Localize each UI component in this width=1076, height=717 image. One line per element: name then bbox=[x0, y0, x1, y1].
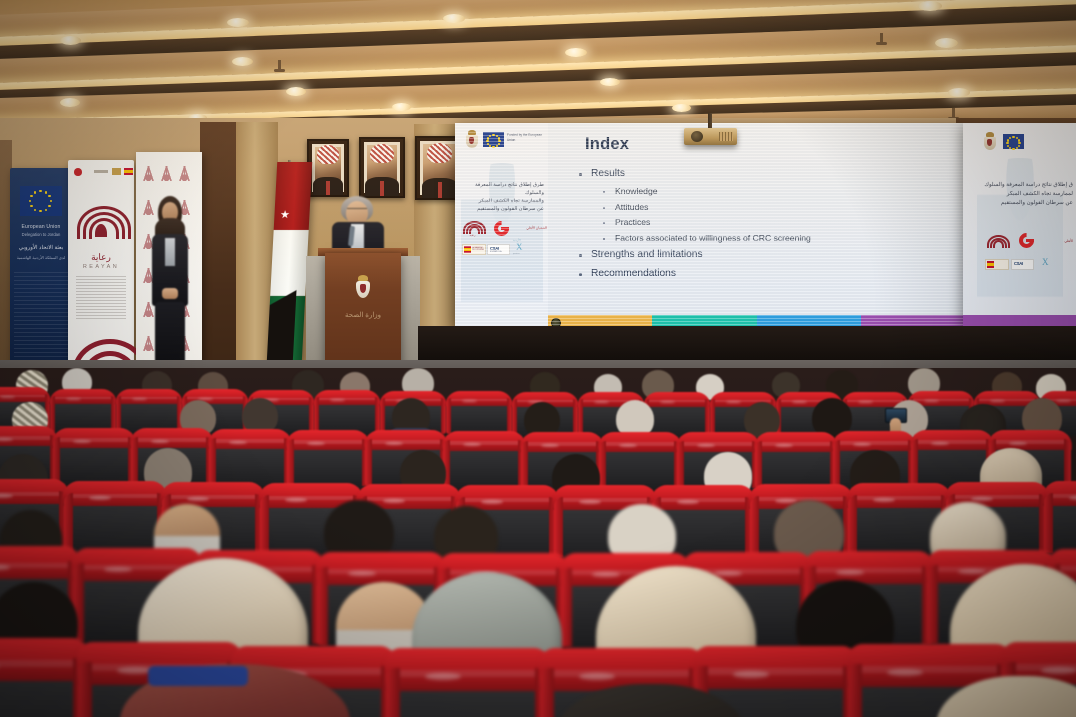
jordan-coat-of-arms-icon bbox=[355, 275, 371, 299]
reayan-banner-text-block bbox=[76, 276, 126, 320]
jordan-coat-of-arms-icon bbox=[983, 132, 996, 151]
projector-vent bbox=[719, 132, 733, 141]
auditorium-seat bbox=[212, 433, 288, 487]
audience-member bbox=[556, 684, 746, 717]
reayan-heart-logo bbox=[77, 206, 125, 250]
red-c-logo bbox=[494, 221, 509, 236]
reayan-banner: رعاية REAYAN bbox=[68, 160, 134, 385]
auditorium-seat bbox=[56, 432, 132, 486]
arabic-partner-label: الأهلي bbox=[1043, 239, 1073, 243]
auditorium-seat bbox=[392, 656, 542, 717]
auditorium-seat bbox=[68, 486, 162, 556]
reayan-heart-logo bbox=[987, 235, 1006, 250]
slide-title: Index bbox=[585, 135, 629, 154]
audience-member-hijab bbox=[120, 664, 350, 717]
royal-portrait bbox=[359, 137, 405, 198]
auditorium-seat bbox=[1048, 486, 1076, 556]
arabic-partner-label: الشعبان الأهلي bbox=[513, 226, 547, 230]
bullet-item: Recommendations bbox=[573, 265, 949, 284]
slide-partner-logos: رعاية الشعبان الأهلي GOBIERNO DE ESPAÑA … bbox=[459, 221, 545, 271]
conference-hall-photo: European Union Delegation to Jordan بعثة… bbox=[0, 0, 1076, 717]
podium-arabic-text: وزارة الصحة bbox=[325, 311, 401, 319]
bullet-item: Attitudes bbox=[573, 200, 949, 216]
eu-banner-line1: European Union bbox=[10, 224, 72, 230]
standing-attendee bbox=[148, 196, 192, 368]
reayan-arabic-name: رعاية bbox=[68, 252, 134, 263]
auditorium-seat bbox=[290, 434, 366, 488]
secondary-display-arabic-title: ق إطلاق نتائج دراسة المعرفة والسلوك لمما… bbox=[965, 181, 1073, 208]
auditorium-seat bbox=[914, 434, 990, 488]
eu-flag-icon bbox=[483, 132, 504, 147]
slide-bullet-list: Results Knowledge Attitudes Practices Fa… bbox=[573, 165, 949, 284]
eu-flag-icon bbox=[20, 186, 62, 216]
projector-lens-icon bbox=[691, 131, 703, 142]
bullet-item: Factors associated to willingness of CRC… bbox=[573, 231, 949, 247]
audience-member-hijab bbox=[936, 676, 1076, 717]
auditorium-seat bbox=[0, 646, 80, 717]
ac-partner-logo: الأردنية Χ partner bbox=[513, 241, 530, 255]
bullet-item: Knowledge bbox=[573, 184, 949, 200]
royal-portrait bbox=[307, 139, 349, 197]
reayan-latin-name: REAYAN bbox=[68, 264, 134, 270]
slide-eu-funding-text: Funded by the European Union bbox=[507, 133, 545, 143]
bullet-item: Strengths and limitations bbox=[573, 246, 949, 265]
european-union-banner: European Union Delegation to Jordan بعثة… bbox=[10, 168, 72, 373]
spain-logo-caption: GOBIERNO DE ESPAÑA bbox=[472, 247, 484, 252]
podium-side-panel-left bbox=[306, 256, 326, 374]
csai-logo: CSAI ESPAÑOLA bbox=[487, 244, 510, 255]
eu-banner-arabic1: بعثة الاتحاد الأوروبي bbox=[10, 245, 72, 251]
reayan-heart-logo: رعاية bbox=[463, 221, 482, 236]
reayan-banner-partner-logos bbox=[72, 166, 130, 180]
auditorium-seat bbox=[758, 436, 834, 490]
eu-banner-arabic2: لدى المملكة الأردنية الهاشمية bbox=[10, 255, 72, 260]
auditorium-seat bbox=[316, 393, 378, 435]
ceiling-projector bbox=[684, 128, 737, 145]
podium: وزارة الصحة bbox=[325, 253, 401, 375]
audience-area bbox=[0, 368, 1076, 717]
eu-banner-line2: Delegation to Jordan bbox=[10, 232, 72, 237]
reayan-logo-caption: رعاية bbox=[464, 234, 481, 237]
eu-banner-text-block bbox=[14, 272, 68, 367]
podium-side-panel-right bbox=[400, 256, 420, 374]
spain-government-logo: GOBIERNO DE ESPAÑA bbox=[462, 244, 486, 255]
ceiling bbox=[0, 0, 1076, 132]
spain-government-logo bbox=[985, 259, 1009, 270]
jordan-coat-of-arms-icon bbox=[465, 130, 478, 149]
auditorium-seat bbox=[602, 436, 678, 490]
presentation-slide: Funded by the European Union طرق إطلاق ن… bbox=[455, 123, 965, 328]
bullet-item: Practices bbox=[573, 215, 949, 231]
projection-screen: Funded by the European Union طرق إطلاق ن… bbox=[455, 123, 965, 328]
csai-logo: CSAI bbox=[1011, 259, 1034, 270]
red-c-logo bbox=[1019, 233, 1034, 248]
auditorium-seat bbox=[448, 394, 510, 436]
slide-arabic-title: طرق إطلاق نتائج دراسة المعرفة والسلوك وا… bbox=[460, 181, 544, 213]
slide-sidebar: Funded by the European Union طرق إطلاق ن… bbox=[455, 123, 548, 328]
eu-flag-icon bbox=[1003, 134, 1024, 149]
csai-logo-subtitle: ESPAÑOLA bbox=[490, 251, 502, 253]
slide-content: Index Results Knowledge Attitudes Practi… bbox=[548, 123, 965, 306]
auditorium-seat bbox=[446, 435, 522, 489]
secondary-display: ق إطلاق نتائج دراسة المعرفة والسلوك لمما… bbox=[963, 123, 1076, 328]
bullet-item: Results bbox=[573, 165, 949, 184]
ac-partner-logo: Χ bbox=[1039, 256, 1056, 270]
